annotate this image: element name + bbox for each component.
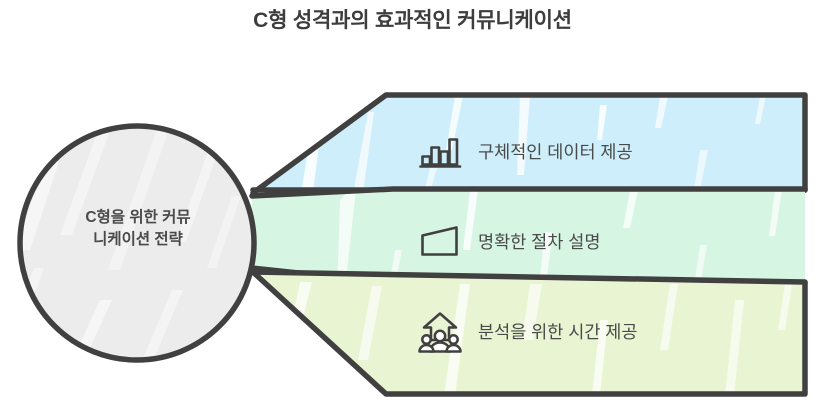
diagram-shapes-layer: [0, 0, 825, 405]
people-growth-arrow-icon: [418, 311, 464, 353]
panel-label-0: 구체적인 데이터 제공: [478, 141, 633, 164]
trapezoid-flowchart-icon: [418, 221, 464, 263]
panel-label-1: 명확한 절차 설명: [478, 231, 600, 254]
infographic-diagram: C형 성격과의 효과적인 커뮤니케이션 C형을 위한 커뮤 니케이션 전략 구체…: [0, 0, 825, 405]
hub-label-line-2: 니케이션 전략: [93, 231, 183, 248]
panel-label-2: 분석을 위한 시간 제공: [478, 321, 638, 344]
page-title: C형 성격과의 효과적인 커뮤니케이션: [0, 8, 825, 33]
hub-label-line-1: C형을 위한 커뮤: [85, 209, 190, 226]
panel-item-1[interactable]: 명확한 절차 설명: [418, 221, 600, 263]
bar-chart-icon: [418, 131, 464, 173]
panel-item-2[interactable]: 분석을 위한 시간 제공: [418, 311, 638, 353]
panel-item-0[interactable]: 구체적인 데이터 제공: [418, 131, 633, 173]
hub-label: C형을 위한 커뮤 니케이션 전략: [43, 207, 233, 252]
